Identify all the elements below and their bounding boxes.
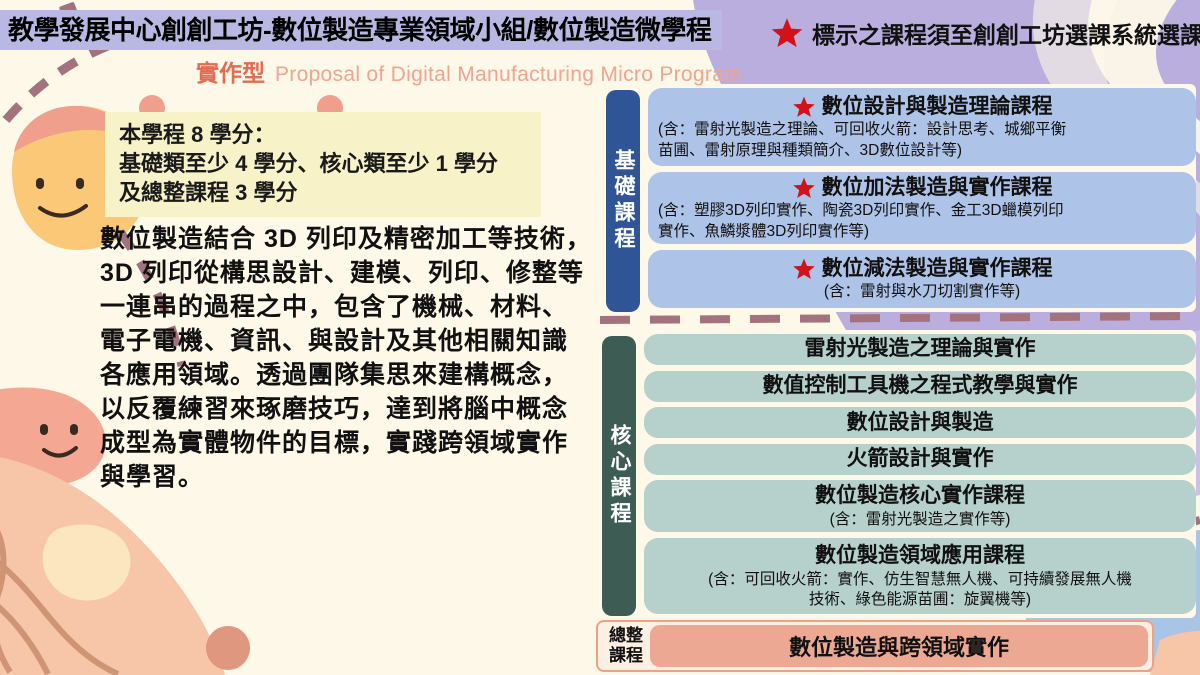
core-course-card[interactable]: 火箭設計與實作 <box>644 444 1196 475</box>
course-title: 數位加法製造與實作課程 <box>822 175 1053 200</box>
description-line-8: 與學習。 <box>100 460 592 494</box>
basic-course-card[interactable]: 數位減法製造與實作課程 (含：雷射與水刀切割實作等) <box>648 250 1196 308</box>
course-title-row: 數位設計與製造理論課程 <box>792 94 1053 119</box>
course-title: 數位減法製造與實作課程 <box>822 256 1053 281</box>
course-title: 數位製造與跨領域實作 <box>789 630 1009 662</box>
capstone-tab-line-1: 總整 <box>609 626 643 646</box>
basic-course-card[interactable]: 數位加法製造與實作課程 (含：塑膠3D列印實作、陶瓷3D列印實作、金工3D蠟模列… <box>648 172 1196 244</box>
credits-line-1: 本學程 8 學分： <box>119 120 527 149</box>
star-icon <box>792 257 816 281</box>
star-icon <box>792 95 816 119</box>
course-detail-line-2: 苗圃、雷射原理與種類簡介、3D數位設計等) <box>658 141 1186 160</box>
basic-courses-tab: 基礎課程 <box>606 90 640 312</box>
core-course-card[interactable]: 數位設計與製造 <box>644 407 1196 438</box>
description-line-6: 以反覆練習來琢磨技巧，達到將腦中概念 <box>100 392 592 426</box>
credits-line-2: 基礎類至少 4 學分、核心類至少 1 學分 <box>119 149 527 178</box>
description-line-1: 數位製造結合 3D 列印及精密加工等技術， <box>100 222 592 256</box>
course-title-row: 數位加法製造與實作課程 <box>792 175 1053 200</box>
course-detail-line-2: 技術、綠色能源苗圃：旋翼機等) <box>809 590 1031 609</box>
star-icon <box>792 176 816 200</box>
course-detail-line-1: (含：可回收火箭：實作、仿生智慧無人機、可持續發展無人機 <box>708 570 1132 589</box>
capstone-tab-line-2: 課程 <box>609 646 643 666</box>
course-title: 數位設計與製造 <box>847 410 994 436</box>
credits-requirement-box: 本學程 8 學分： 基礎類至少 4 學分、核心類至少 1 學分 及總整課程 3 … <box>105 112 541 217</box>
subtitle-english: Proposal of Digital Manufacturing Micro … <box>275 63 742 87</box>
program-description: 數位製造結合 3D 列印及精密加工等技術， 3D 列印從構思設計、建模、列印、修… <box>100 222 592 494</box>
course-title: 雷射光製造之理論與實作 <box>805 336 1036 362</box>
course-detail-line-1: (含：雷射與水刀切割實作等) <box>824 282 1020 301</box>
core-course-card[interactable]: 雷射光製造之理論與實作 <box>644 334 1196 365</box>
course-title: 數位製造領域應用課程 <box>815 543 1025 569</box>
description-line-4: 電子電機、資訊、與設計及其他相關知識 <box>100 324 592 358</box>
slide-canvas: 教學發展中心創創工坊-數位製造專業領域小組/數位製造微學程 實作型 Propos… <box>0 0 1200 675</box>
description-line-7: 成型為實體物件的目標，實踐跨領域實作 <box>100 426 592 460</box>
star-legend-note: 標示之課程須至創創工坊選課系統選課 <box>770 16 1200 50</box>
course-title: 數位設計與製造理論課程 <box>822 94 1053 119</box>
basic-courses-list: 數位設計與製造理論課程 (含：雷射光製造之理論、可回收火箭：設計思考、城鄉平衡 … <box>648 88 1196 308</box>
capstone-course-card[interactable]: 數位製造與跨領域實作 <box>650 625 1148 667</box>
core-course-card[interactable]: 數位製造領域應用課程 (含：可回收火箭：實作、仿生智慧無人機、可持續發展無人機 … <box>644 538 1196 614</box>
page-title: 教學發展中心創創工坊-數位製造專業領域小組/數位製造微學程 <box>0 10 711 50</box>
core-course-card[interactable]: 數位製造核心實作課程 (含：雷射光製造之實作等) <box>644 480 1196 532</box>
capstone-card-wrap: 數位製造與跨領域實作 <box>650 625 1148 667</box>
description-line-2: 3D 列印從構思設計、建模、列印、修整等 <box>100 256 592 290</box>
course-title: 數位製造核心實作課程 <box>815 483 1025 509</box>
star-legend-text: 標示之課程須至創創工坊選課系統選課 <box>812 16 1200 50</box>
capstone-tab: 總整 課程 <box>602 625 650 667</box>
description-line-5: 各應用領域。透過團隊集思來建構概念， <box>100 358 592 392</box>
course-title: 數值控制工具機之程式教學與實作 <box>763 373 1078 399</box>
basic-courses-panel: 基礎課程 數位設計與製造理論課程 (含：雷射光製造之理論、可回收火箭：設計思考、… <box>600 84 1196 312</box>
course-detail-line-1: (含：塑膠3D列印實作、陶瓷3D列印實作、金工3D蠟模列印 <box>658 201 1186 220</box>
description-line-3: 一連串的過程之中，包含了機械、材料、 <box>100 290 592 324</box>
course-detail-line-1: (含：雷射光製造之實作等) <box>830 510 1011 529</box>
subtitle-row: 實作型 Proposal of Digital Manufacturing Mi… <box>196 54 742 88</box>
credits-line-3: 及總整課程 3 學分 <box>119 178 527 207</box>
core-courses-panel: 核心課程 雷射光製造之理論與實作 數值控制工具機之程式教學與實作 數位設計與製造… <box>596 330 1196 618</box>
slide-title-bar: 教學發展中心創創工坊-數位製造專業領域小組/數位製造微學程 <box>0 10 722 50</box>
core-course-card[interactable]: 數值控制工具機之程式教學與實作 <box>644 371 1196 402</box>
capstone-course-panel: 總整 課程 數位製造與跨領域實作 <box>596 620 1154 672</box>
core-courses-tab: 核心課程 <box>602 336 636 616</box>
course-detail-line-1: (含：雷射光製造之理論、可回收火箭：設計思考、城鄉平衡 <box>658 120 1186 139</box>
star-icon <box>770 16 804 50</box>
course-title-row: 數位減法製造與實作課程 <box>792 256 1053 281</box>
course-detail-line-2: 實作、魚鱗漿體3D列印實作等) <box>658 222 1186 241</box>
basic-course-card[interactable]: 數位設計與製造理論課程 (含：雷射光製造之理論、可回收火箭：設計思考、城鄉平衡 … <box>648 88 1196 166</box>
subtitle-chinese: 實作型 <box>196 54 265 88</box>
core-courses-list: 雷射光製造之理論與實作 數值控制工具機之程式教學與實作 數位設計與製造 火箭設計… <box>644 334 1196 614</box>
course-title: 火箭設計與實作 <box>847 446 994 472</box>
